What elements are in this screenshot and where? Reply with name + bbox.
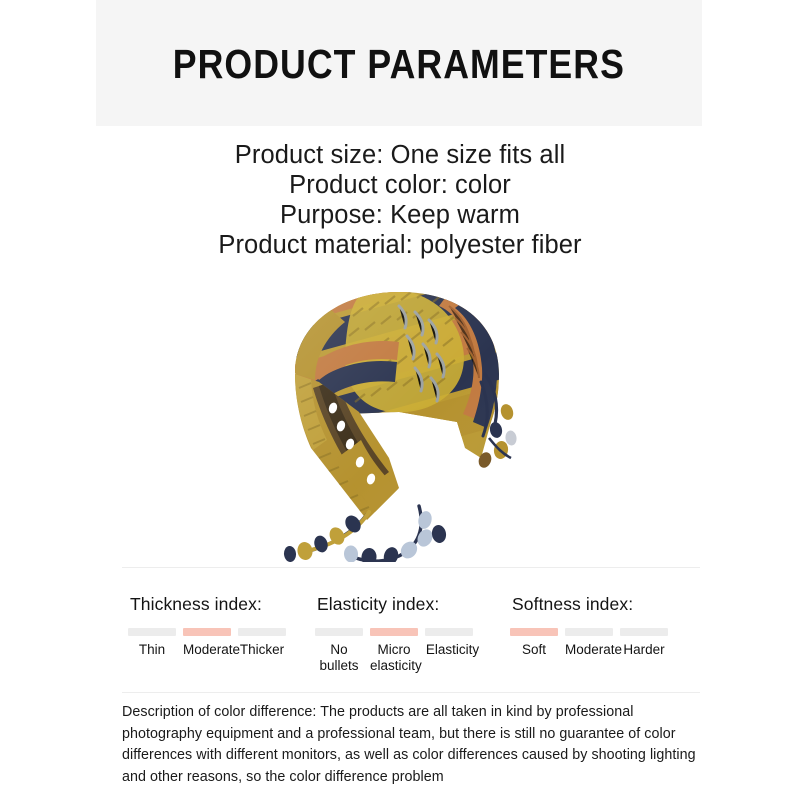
index-block-elasticity: Elasticity index: No bullets Micro elast… — [315, 594, 480, 674]
index-title-elasticity: Elasticity index: — [317, 594, 480, 615]
index-label-moderate: Moderate — [183, 642, 231, 658]
page-title: PRODUCT PARAMETERS — [173, 41, 625, 88]
index-bar-no-bullets — [315, 628, 363, 636]
divider-top — [122, 567, 700, 568]
index-title-softness: Softness index: — [512, 594, 668, 615]
index-bars-thickness — [128, 628, 286, 636]
index-row: Thickness index: Thin Moderate Thicker E… — [122, 594, 702, 684]
product-image-hat — [249, 262, 549, 562]
spec-line-color: Product color: color — [0, 170, 800, 200]
index-block-softness: Softness index: Soft Moderate Harder — [510, 594, 668, 658]
index-bar-harder — [620, 628, 668, 636]
index-bar-soft — [510, 628, 558, 636]
index-title-thickness: Thickness index: — [130, 594, 286, 615]
index-bars-elasticity — [315, 628, 480, 636]
index-bar-thin — [128, 628, 176, 636]
index-bar-thicker — [238, 628, 286, 636]
index-label-moderate-softness: Moderate — [565, 642, 613, 658]
spec-line-purpose: Purpose: Keep warm — [0, 200, 800, 230]
spec-list: Product size: One size fits all Product … — [0, 140, 800, 260]
index-bar-moderate — [183, 628, 231, 636]
index-bar-elasticity — [425, 628, 473, 636]
index-bars-softness — [510, 628, 668, 636]
index-labels-thickness: Thin Moderate Thicker — [128, 642, 286, 658]
header-band: PRODUCT PARAMETERS — [96, 0, 702, 126]
spec-line-material: Product material: polyester fiber — [0, 230, 800, 260]
index-label-thicker: Thicker — [238, 642, 286, 658]
index-block-thickness: Thickness index: Thin Moderate Thicker — [128, 594, 286, 658]
product-photo-area — [96, 262, 702, 562]
divider-bottom — [122, 692, 700, 693]
color-difference-description: Description of color difference: The pro… — [122, 702, 702, 788]
index-label-no-bullets: No bullets — [315, 642, 363, 674]
index-label-harder: Harder — [620, 642, 668, 658]
index-bar-micro-elasticity — [370, 628, 418, 636]
product-parameters-page: PRODUCT PARAMETERS Product size: One siz… — [0, 0, 800, 800]
index-label-micro-elasticity: Micro elasticity — [370, 642, 418, 674]
index-bar-moderate-softness — [565, 628, 613, 636]
index-label-elasticity: Elasticity — [425, 642, 480, 674]
index-labels-elasticity: No bullets Micro elasticity Elasticity — [315, 642, 480, 674]
index-labels-softness: Soft Moderate Harder — [510, 642, 668, 658]
index-label-soft: Soft — [510, 642, 558, 658]
spec-line-size: Product size: One size fits all — [0, 140, 800, 170]
index-label-thin: Thin — [128, 642, 176, 658]
